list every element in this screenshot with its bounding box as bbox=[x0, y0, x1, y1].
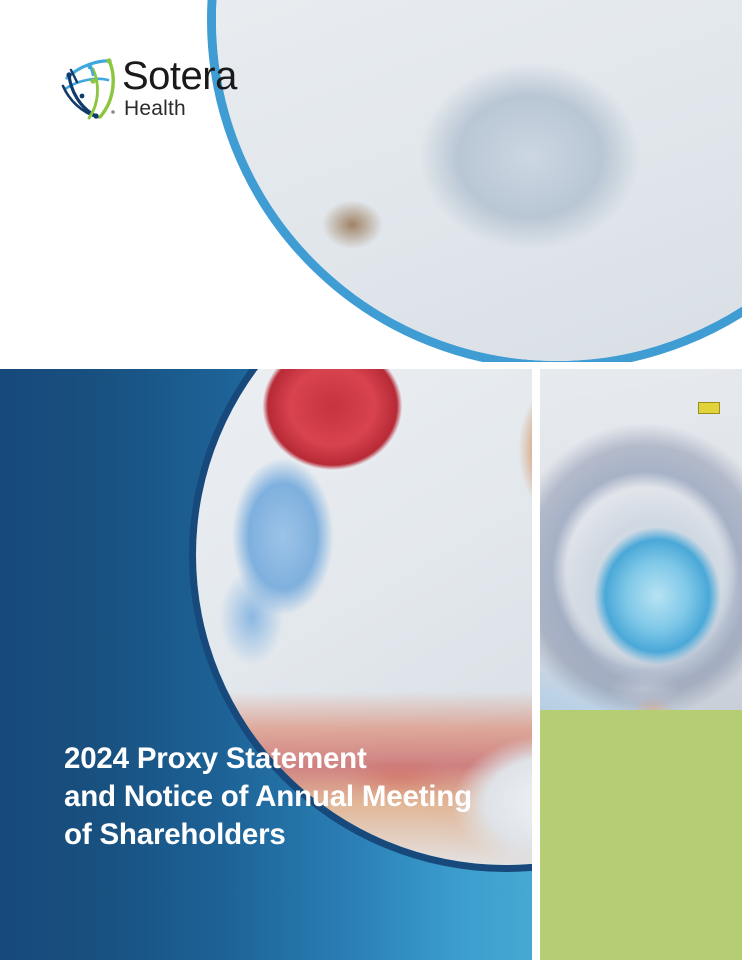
laser-warning-label-icon bbox=[698, 402, 720, 414]
title-line-2: and Notice of Annual Meeting bbox=[64, 778, 504, 816]
brand-subname: Health bbox=[124, 96, 186, 122]
hero-section bbox=[0, 0, 742, 362]
sotera-network-globe-icon bbox=[60, 56, 122, 122]
horizontal-divider bbox=[0, 362, 742, 369]
title-panel bbox=[0, 369, 532, 960]
brand-name: Sotera bbox=[122, 54, 237, 98]
child-patient-with-clinician-photo bbox=[216, 0, 742, 361]
cover-title: 2024 Proxy Statement and Notice of Annua… bbox=[64, 740, 504, 854]
sotera-health-wordmark: Sotera Health bbox=[122, 56, 248, 126]
proxy-statement-cover: Sotera Health 2024 Proxy Statement and N… bbox=[0, 0, 742, 960]
sotera-health-logo: Sotera Health bbox=[60, 56, 250, 128]
right-column bbox=[540, 369, 742, 960]
green-accent-body bbox=[540, 710, 742, 960]
hero-circle-frame bbox=[207, 0, 742, 362]
vertical-divider bbox=[532, 362, 540, 960]
green-accent-panel bbox=[540, 710, 742, 960]
title-line-3: of Shareholders bbox=[64, 816, 504, 854]
title-line-1: 2024 Proxy Statement bbox=[64, 740, 504, 778]
